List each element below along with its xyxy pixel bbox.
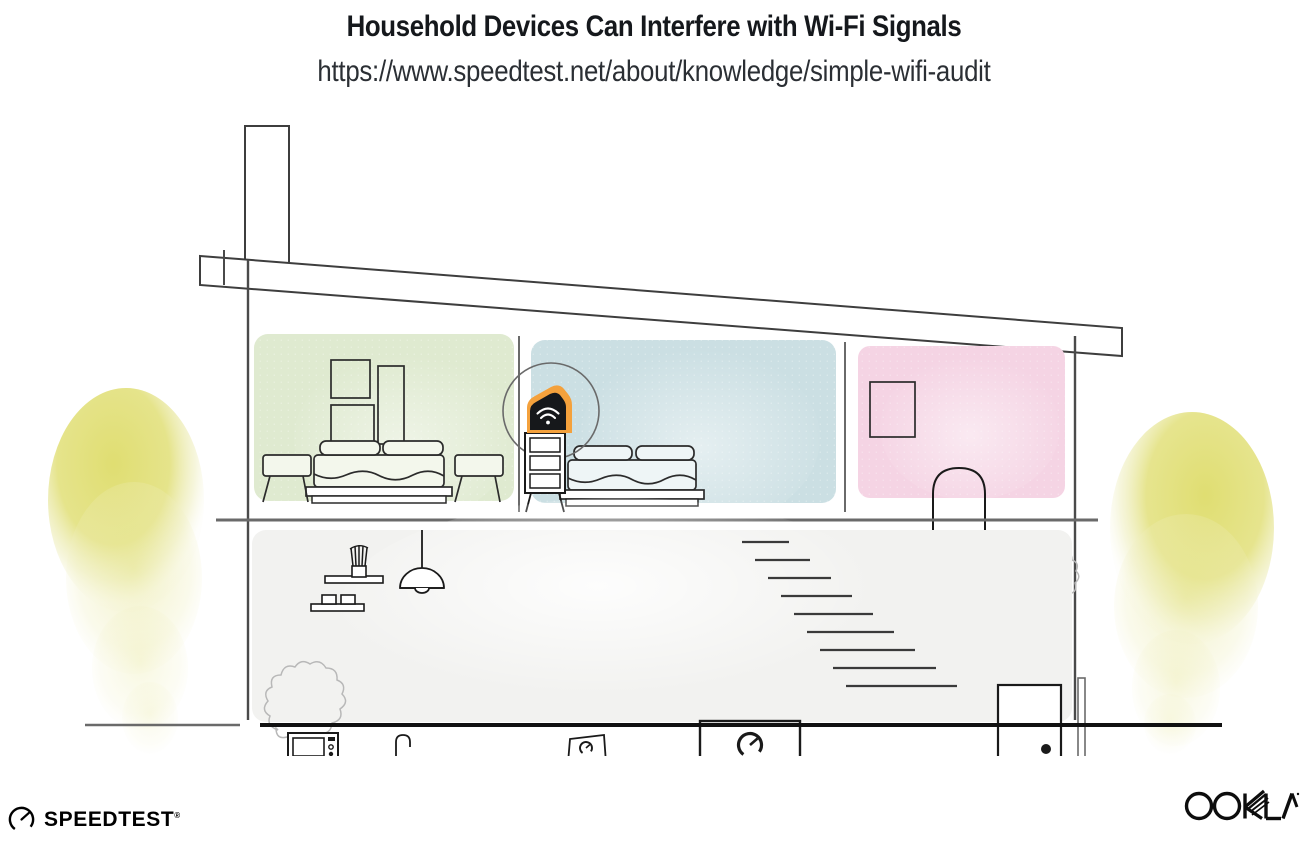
brand-name-text: SPEEDTEST <box>44 808 174 831</box>
ookla-logo <box>1182 786 1300 831</box>
bed-green-room <box>306 441 452 503</box>
header: Household Devices Can Interfere with Wi-… <box>0 0 1308 92</box>
speedtest-wordmark: SPEEDTEST® <box>44 808 181 832</box>
tree-left <box>48 388 204 754</box>
brand-trademark: ® <box>174 811 181 820</box>
illustration-stage: SPEEDTEST <box>0 108 1308 756</box>
ground-floor-living-kitchen: SPEEDTEST <box>252 498 1085 756</box>
bed-blue-room <box>560 446 704 506</box>
door-knob-icon <box>1041 744 1051 754</box>
page-title: Household Devices Can Interfere with Wi-… <box>92 8 1217 46</box>
front-door[interactable] <box>998 685 1061 756</box>
upstairs-bedroom-green <box>254 334 514 522</box>
sink-faucet-icon <box>396 735 410 756</box>
house-cutaway-illustration: SPEEDTEST <box>0 108 1308 756</box>
speedtest-brand-lockup: SPEEDTEST® <box>8 806 181 833</box>
porch-post <box>1078 678 1085 756</box>
laptop-speedtest[interactable]: SPEEDTEST <box>556 735 612 756</box>
source-url: https://www.speedtest.net/about/knowledg… <box>92 52 1217 93</box>
poster-root: Household Devices Can Interfere with Wi-… <box>0 0 1308 861</box>
speedtest-gauge-icon <box>8 806 35 833</box>
ookla-wordmark-icon <box>1182 786 1300 826</box>
tree-right <box>1110 412 1274 754</box>
